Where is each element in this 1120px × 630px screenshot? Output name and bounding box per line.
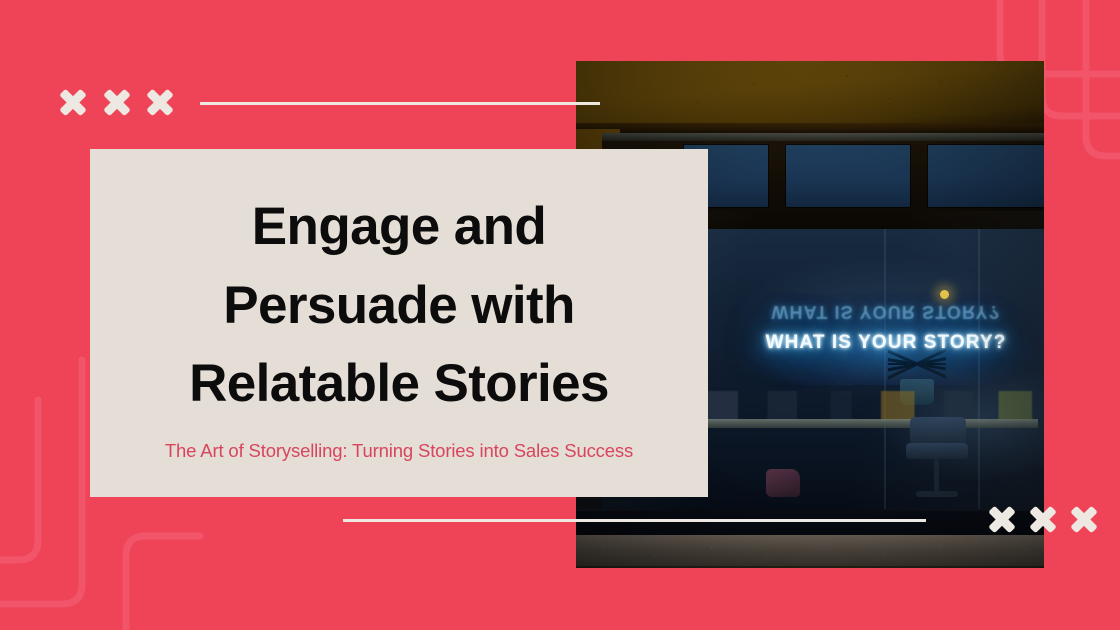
title-line-2: Persuade with (114, 267, 684, 345)
chair-base (916, 491, 958, 497)
title-line-1: Engage and (114, 188, 684, 266)
photo-transom-pane (928, 145, 1044, 207)
page-title: Engage and Persuade with Relatable Stori… (114, 188, 684, 423)
x-mark-icon (103, 88, 131, 116)
title-line-3: Relatable Stories (114, 345, 684, 423)
photo-concrete-sill (576, 535, 1044, 568)
top-rule (200, 102, 600, 105)
bottom-rule (343, 519, 926, 522)
photo-frame-highlight (602, 133, 1044, 141)
photo-ceiling-lamp (940, 290, 949, 299)
chair-stem (934, 459, 939, 493)
x-mark-icon (988, 505, 1016, 533)
chair-seat (906, 443, 968, 459)
chair-back (910, 417, 966, 445)
x-mark-icon (1029, 505, 1057, 533)
page-subtitle: The Art of Storyselling: Turning Stories… (165, 440, 633, 462)
photo-ground-strip (576, 566, 1044, 568)
neon-sign-reflection: WHAT IS YOUR STORY? (762, 301, 1010, 322)
slide-canvas: WHAT IS YOUR STORY? WHAT IS YOUR STORY? (0, 0, 1120, 630)
x-mark-icon (59, 88, 87, 116)
photo-transom-pane (786, 145, 910, 207)
x-mark-icon (1070, 505, 1098, 533)
photo-awning-wall (576, 61, 1044, 129)
x-mark-icon (146, 88, 174, 116)
photo-floor-bag (766, 469, 800, 497)
neon-sign-text: WHAT IS YOUR STORY? (762, 332, 1010, 354)
text-card: Engage and Persuade with Relatable Stori… (90, 149, 708, 497)
